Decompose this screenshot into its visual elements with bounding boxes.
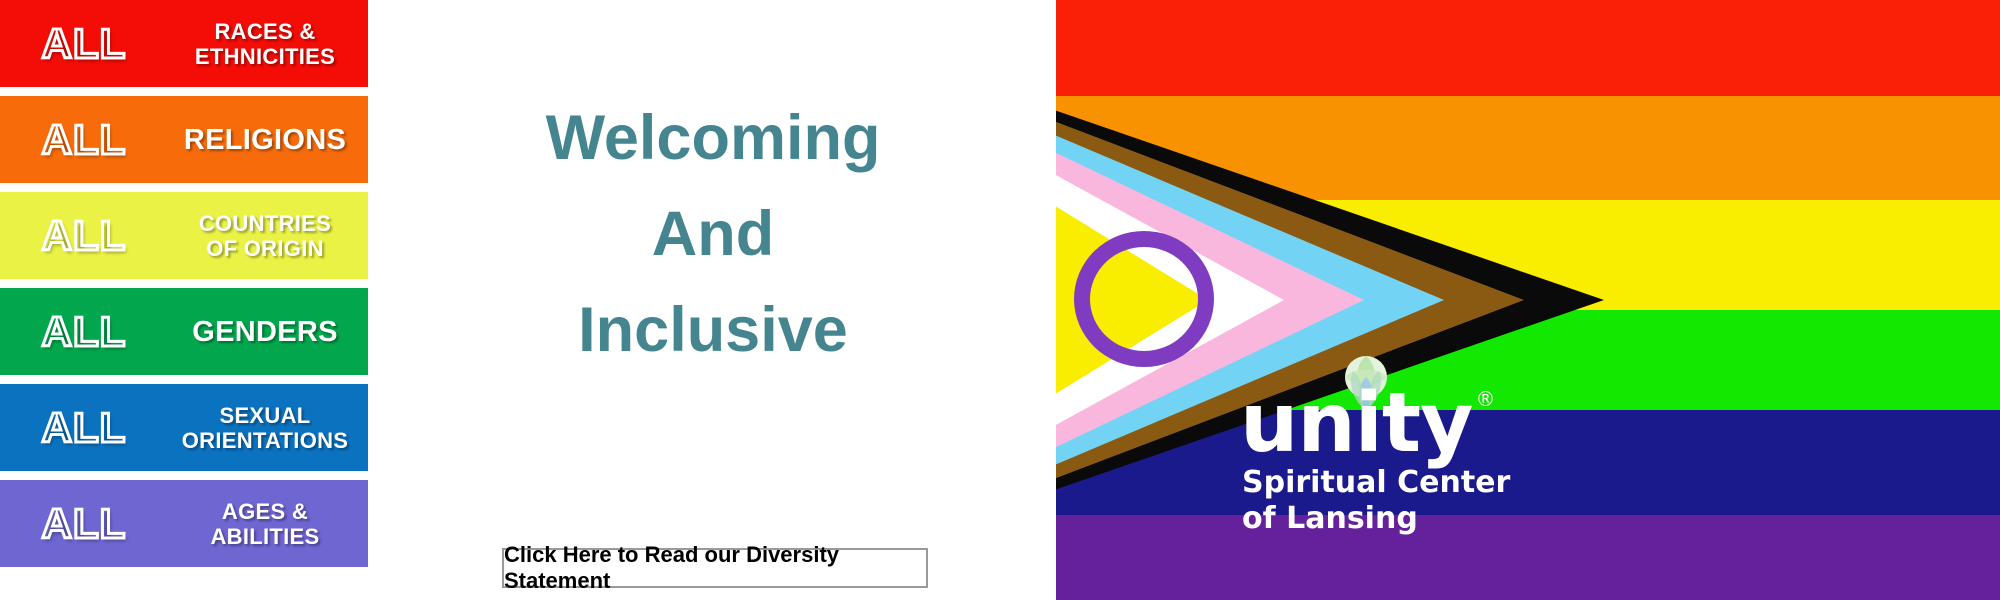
unity-logo: unity ® Spiritual Center of Lansing (1240, 355, 1520, 595)
progress-pride-flag (1056, 0, 2000, 600)
all-word: ALL (0, 23, 168, 65)
all-bar-label-line2: ABILITIES (210, 524, 319, 549)
center-panel: Welcoming And Inclusive Click Here to Re… (370, 0, 1056, 600)
all-bar-label-line2: ORIENTATIONS (182, 428, 349, 453)
all-bar-label: GENDERS (168, 317, 368, 347)
all-bar-label-line1: AGES & (222, 499, 308, 524)
unity-wordmark: unity ® (1240, 383, 1490, 461)
flag-stripe-red (1056, 0, 2000, 96)
all-bar-label-line2: OF ORIGIN (206, 236, 324, 261)
all-bar-label-line1: RELIGIONS (184, 124, 346, 156)
all-bar-label-line1: SEXUAL (219, 403, 310, 428)
diversity-statement-button-label: Click Here to Read our Diversity Stateme… (504, 542, 926, 594)
all-bar-label: COUNTRIES OF ORIGIN (168, 211, 368, 261)
all-bar-ages-abilities: ALL AGES & ABILITIES (0, 480, 368, 567)
registered-trademark-icon: ® (1476, 389, 1496, 409)
all-word: ALL (0, 407, 168, 449)
all-bar-label-line2: ETHNICITIES (195, 44, 335, 69)
unity-wordmark-text: unity (1240, 383, 1473, 465)
intersex-circle-icon (1074, 231, 1214, 367)
all-bar-label-line1: RACES & (214, 19, 315, 44)
unity-subtitle-line-1: Spiritual Center (1242, 465, 1512, 501)
all-bar-label: RELIGIONS (168, 125, 368, 155)
all-bars-column: ALL RACES & ETHNICITIES ALL RELIGIONS AL… (0, 0, 370, 600)
all-bar-sexual-orientations: ALL SEXUAL ORIENTATIONS (0, 384, 368, 471)
diversity-statement-button[interactable]: Click Here to Read our Diversity Stateme… (502, 548, 928, 588)
all-word: ALL (0, 215, 168, 257)
flag-stripe-purple (1056, 515, 2000, 600)
unity-subtitle-line-2: of Lansing (1242, 501, 1512, 537)
all-bar-label: SEXUAL ORIENTATIONS (168, 403, 368, 453)
unity-subtitle: Spiritual Center of Lansing (1242, 465, 1512, 537)
all-bar-label-line1: GENDERS (192, 316, 338, 348)
headline-line-2: And (370, 186, 1056, 282)
all-bar-religions: ALL RELIGIONS (0, 96, 368, 183)
headline-line-3: Inclusive (370, 282, 1056, 378)
all-bar-races-ethnicities: ALL RACES & ETHNICITIES (0, 0, 368, 87)
all-word: ALL (0, 311, 168, 353)
all-bar-label-line1: COUNTRIES (199, 211, 331, 236)
all-bar-countries-of-origin: ALL COUNTRIES OF ORIGIN (0, 192, 368, 279)
all-word: ALL (0, 503, 168, 545)
all-bar-label: AGES & ABILITIES (168, 499, 368, 549)
all-bar-genders: ALL GENDERS (0, 288, 368, 375)
page-title: Welcoming And Inclusive (370, 90, 1056, 378)
diversity-banner: ALL RACES & ETHNICITIES ALL RELIGIONS AL… (0, 0, 2000, 600)
all-bar-label: RACES & ETHNICITIES (168, 19, 368, 69)
headline-line-1: Welcoming (370, 90, 1056, 186)
all-word: ALL (0, 119, 168, 161)
